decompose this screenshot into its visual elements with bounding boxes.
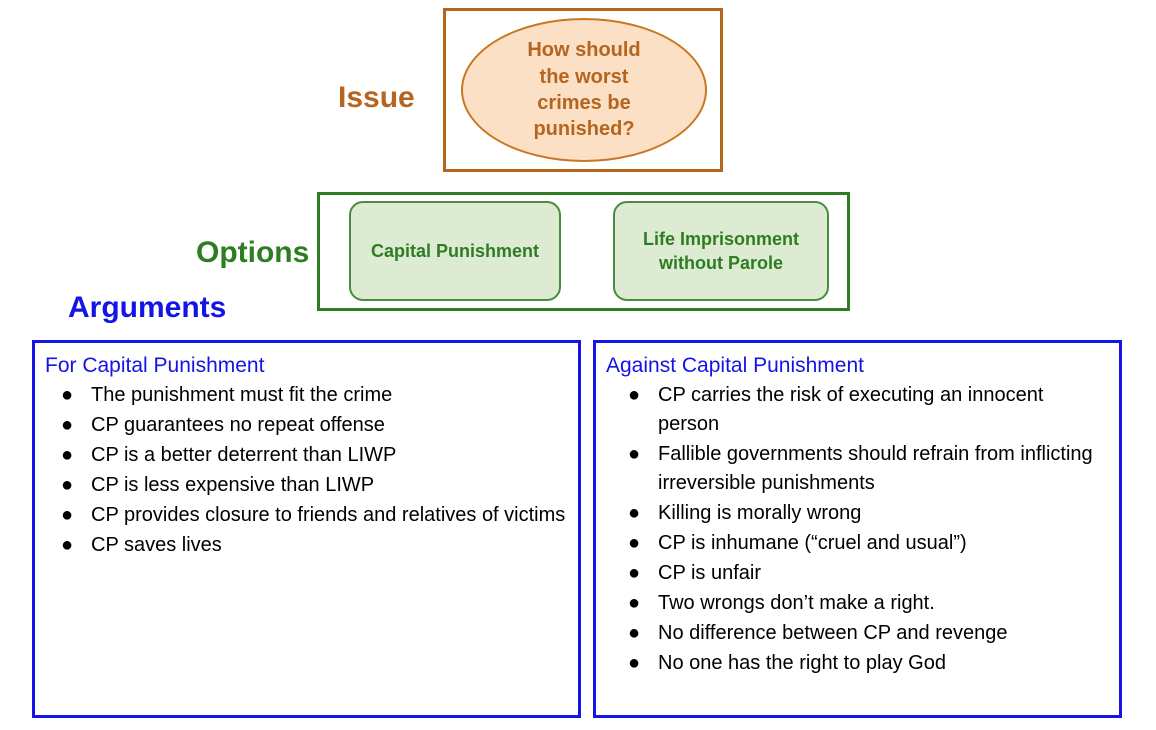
- option-card-life-imprisonment[interactable]: Life Imprisonment without Parole: [613, 201, 829, 301]
- option-card-capital-punishment[interactable]: Capital Punishment: [349, 201, 561, 301]
- list-item-text: Two wrongs don’t make a right.: [658, 592, 935, 614]
- list-item-text: CP is a better deterrent than LIWP: [91, 444, 396, 466]
- bullet-icon: ●: [628, 381, 640, 410]
- list-item: ● CP is a better deterrent than LIWP: [45, 441, 568, 470]
- list-item: ● CP is inhumane (“cruel and usual”): [606, 529, 1109, 558]
- options-row-label: Options: [196, 238, 309, 268]
- issue-row-label: Issue: [338, 83, 415, 113]
- issue-question-text: How should the worst crimes be punished?: [463, 37, 705, 143]
- bullet-icon: ●: [61, 471, 73, 500]
- bullet-icon: ●: [628, 440, 640, 469]
- option-card-label: Life Imprisonment without Parole: [615, 227, 827, 276]
- list-item-text: CP is inhumane (“cruel and usual”): [658, 532, 967, 554]
- bullet-icon: ●: [61, 411, 73, 440]
- list-item: ● CP saves lives: [45, 531, 568, 560]
- list-item-text: CP is less expensive than LIWP: [91, 474, 374, 496]
- list-item: ● CP carries the risk of executing an in…: [606, 381, 1109, 439]
- list-item: ● Killing is morally wrong: [606, 499, 1109, 528]
- list-item: ● The punishment must fit the crime: [45, 381, 568, 410]
- list-item-text: CP carries the risk of executing an inno…: [658, 384, 1043, 435]
- list-item: ● No one has the right to play God: [606, 649, 1109, 678]
- list-item-text: CP guarantees no repeat offense: [91, 414, 385, 436]
- bullet-icon: ●: [628, 499, 640, 528]
- diagram-canvas: Issue How should the worst crimes be pun…: [0, 0, 1156, 730]
- arguments-row-label: Arguments: [68, 293, 226, 323]
- argument-panel-for: For Capital Punishment ● The punishment …: [32, 340, 581, 718]
- bullet-icon: ●: [628, 649, 640, 678]
- list-item-text: Fallible governments should refrain from…: [658, 443, 1093, 494]
- list-item: ● CP guarantees no repeat offense: [45, 411, 568, 440]
- list-item: ● Two wrongs don’t make a right.: [606, 589, 1109, 618]
- list-item: ● CP is less expensive than LIWP: [45, 471, 568, 500]
- list-item-text: CP is unfair: [658, 562, 761, 584]
- bullet-icon: ●: [628, 559, 640, 588]
- list-item-text: CP provides closure to friends and relat…: [91, 504, 565, 526]
- bullet-icon: ●: [61, 381, 73, 410]
- argument-panel-heading: For Capital Punishment: [45, 353, 568, 379]
- option-card-label: Capital Punishment: [365, 239, 545, 263]
- list-item-text: CP saves lives: [91, 534, 222, 556]
- list-item: ● Fallible governments should refrain fr…: [606, 440, 1109, 498]
- bullet-icon: ●: [628, 619, 640, 648]
- list-item: ● CP provides closure to friends and rel…: [45, 501, 568, 530]
- argument-list: ● CP carries the risk of executing an in…: [606, 381, 1109, 678]
- argument-list: ● The punishment must fit the crime ● CP…: [45, 381, 568, 560]
- list-item-text: No one has the right to play God: [658, 652, 946, 674]
- list-item-text: The punishment must fit the crime: [91, 384, 392, 406]
- list-item-text: Killing is morally wrong: [658, 502, 861, 524]
- list-item: ● No difference between CP and revenge: [606, 619, 1109, 648]
- bullet-icon: ●: [628, 529, 640, 558]
- argument-panel-against: Against Capital Punishment ● CP carries …: [593, 340, 1122, 718]
- bullet-icon: ●: [61, 441, 73, 470]
- bullet-icon: ●: [628, 589, 640, 618]
- issue-ellipse: How should the worst crimes be punished?: [461, 18, 707, 162]
- list-item-text: No difference between CP and revenge: [658, 622, 1008, 644]
- list-item: ● CP is unfair: [606, 559, 1109, 588]
- argument-panel-heading: Against Capital Punishment: [606, 353, 1109, 379]
- bullet-icon: ●: [61, 501, 73, 530]
- bullet-icon: ●: [61, 531, 73, 560]
